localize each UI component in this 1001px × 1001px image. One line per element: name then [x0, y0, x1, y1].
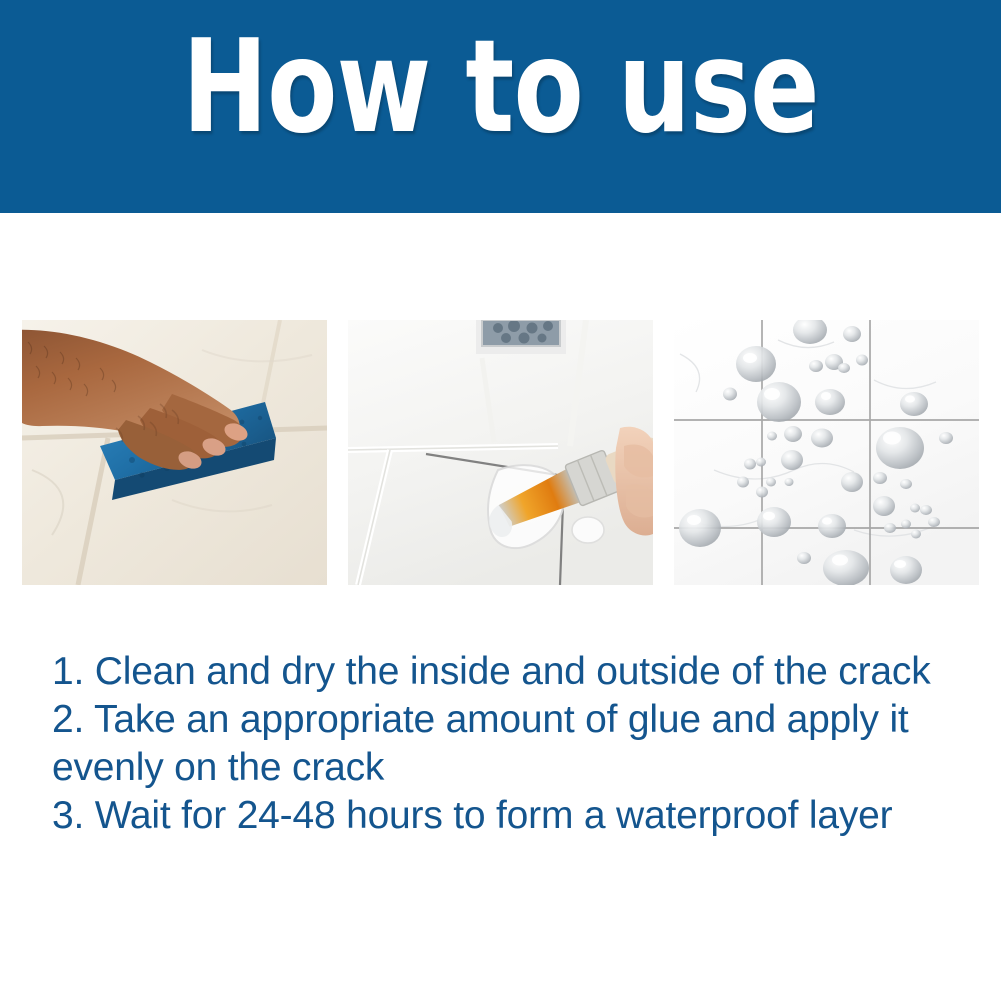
instruction-step-2: 2. Take an appropriate amount of glue an… — [52, 696, 972, 792]
header-banner: How to use — [0, 0, 1001, 213]
photo-apply-glue — [348, 320, 653, 585]
instruction-step-3: 3. Wait for 24-48 hours to form a waterp… — [52, 792, 972, 840]
hand-wiping-tile-with-sponge-illustration — [22, 320, 327, 585]
brush-applying-glue-illustration — [348, 320, 653, 585]
water-droplets-on-tile-illustration — [674, 320, 979, 585]
photo-strip — [22, 320, 979, 585]
instruction-list: 1. Clean and dry the inside and outside … — [52, 648, 972, 840]
page-title: How to use — [100, 24, 901, 152]
instruction-step-1: 1. Clean and dry the inside and outside … — [52, 648, 972, 696]
photo-waterproof-result — [674, 320, 979, 585]
photo-clean-tile — [22, 320, 327, 585]
